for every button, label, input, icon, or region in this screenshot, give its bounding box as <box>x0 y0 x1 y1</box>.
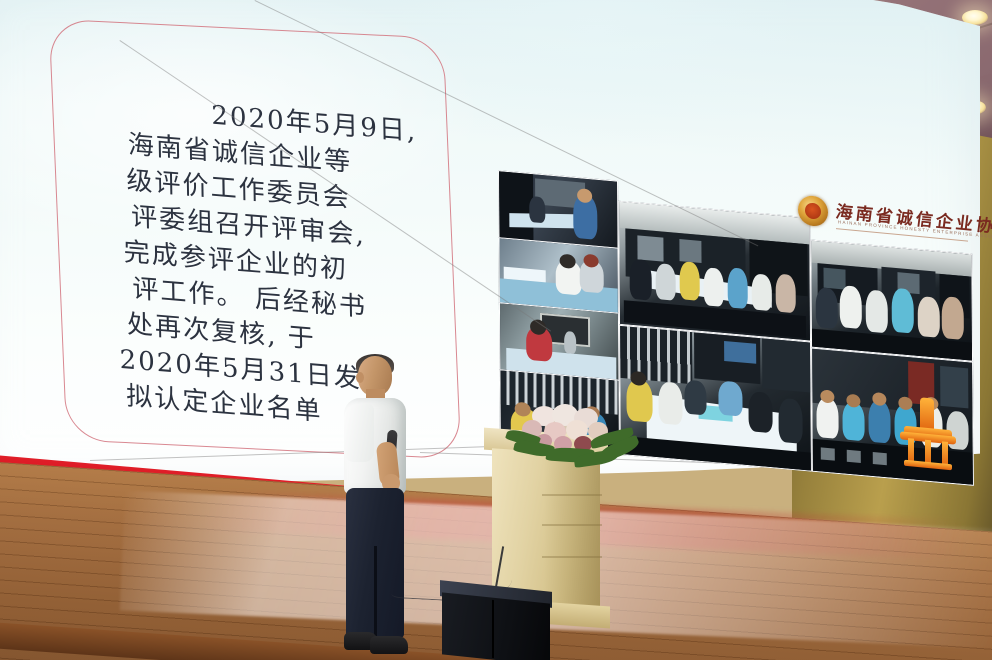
collage-photo-meeting-room-standing <box>810 240 973 362</box>
presenter-ear <box>356 372 364 383</box>
presenter-shoe <box>370 636 408 654</box>
conference-hall-photo: 2020年5月9日, 海南省诚信企业等 级评价工作委员会 评委组召开评审会, 完… <box>0 0 992 660</box>
lectern-shading <box>544 452 600 612</box>
monitor-body <box>442 592 550 660</box>
collage-photo-office-desk-review <box>498 170 618 249</box>
stage-monitor-speaker <box>440 586 552 660</box>
collage-photo-two-people-desk <box>498 237 618 314</box>
collage-photo-meeting-documents <box>619 325 812 472</box>
presenter <box>330 356 422 658</box>
collage-photo-woman-at-desk <box>499 302 619 381</box>
presenter-leg-separation <box>374 546 377 638</box>
gold-ornament-icon <box>900 395 956 472</box>
floral-arrangement <box>502 404 642 468</box>
presenter-sleeve <box>344 404 374 462</box>
association-emblem-icon <box>798 195 828 228</box>
monitor-seam <box>492 600 494 658</box>
collage-photo-conference-table-wide <box>618 201 811 342</box>
